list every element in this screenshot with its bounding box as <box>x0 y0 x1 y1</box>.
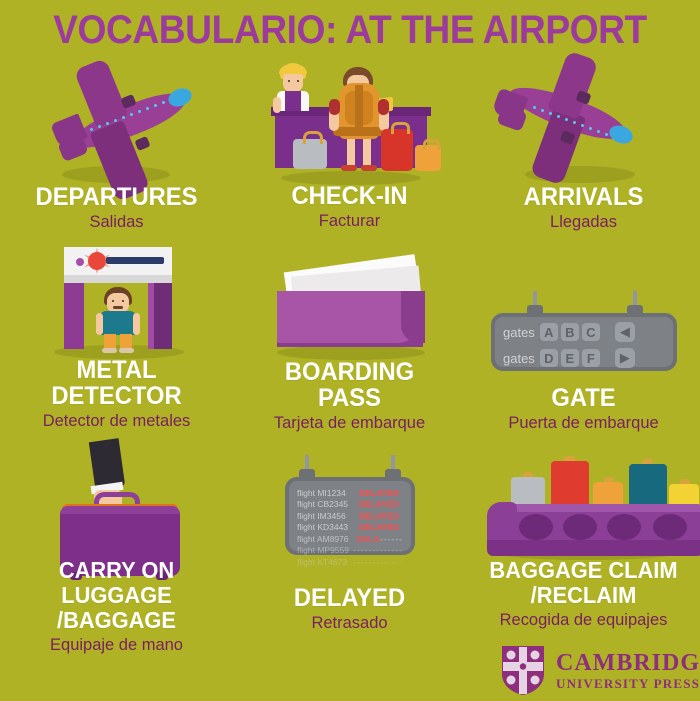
logo-line-2: UNIVERSITY PRESS <box>556 677 700 690</box>
entry-baggage-claim: BAGGAGE CLAIM /RECLAIM Recogida de equip… <box>467 440 700 558</box>
flight-row: flight KD3443 DELAYED <box>297 522 403 534</box>
flight-number: flight KD3443 <box>297 522 359 532</box>
entry-carry-on-luggage: CARRY ON LUGGAGE /BAGGAGE Equipaje de ma… <box>0 440 233 558</box>
baggage-claim-label-en-line1: BAGGAGE CLAIM <box>473 558 694 583</box>
gate-sign-icon: gates A B C ◀ gates D E F ▶ <box>467 255 700 380</box>
flight-number: flight CB2345 <box>297 499 359 509</box>
gate-row2-letter-e: E <box>561 349 579 367</box>
entry-metal-detector: METAL DETECTOR Detector de metales <box>0 245 233 357</box>
gate-row2-letter-f: F <box>582 349 600 367</box>
gate-row2-letter-d: D <box>540 349 558 367</box>
gate-labels: GATE Puerta de embarque <box>467 385 700 433</box>
delayed-labels: DELAYED Retrasado <box>233 585 466 633</box>
flight-row: flight MI1234 DELAYED <box>297 487 403 499</box>
airplane-taking-off-icon <box>0 62 233 182</box>
delayed-label-en: DELAYED <box>239 585 460 611</box>
metal-detector-labels: METAL DETECTOR Detector de metales <box>0 357 233 431</box>
arrivals-label-en: ARRIVALS <box>473 184 694 210</box>
flight-number: flight MP9559 <box>297 545 353 555</box>
flight-number: flight KT4673 <box>297 557 353 567</box>
departures-label-es: Salidas <box>3 212 229 232</box>
logo-line-1: CAMBRIDGE <box>556 651 700 675</box>
entry-delayed: flight MI1234 DELAYED flight CB2345 DELA… <box>233 445 466 557</box>
arrivals-labels: ARRIVALS Llegadas <box>467 184 700 232</box>
flight-number: flight IM3456 <box>297 511 359 521</box>
entry-arrivals: ARRIVALS Llegadas <box>467 62 700 182</box>
flight-number: flight MI1234 <box>297 488 359 498</box>
entry-departures: DEPARTURES Salidas <box>0 62 233 182</box>
delayed-label-es: Retrasado <box>236 613 462 633</box>
baggage-carousel-icon <box>467 440 700 558</box>
flight-row: flight KT4673 ------------- <box>297 556 403 568</box>
checkin-label-en: CHECK-IN <box>239 183 460 209</box>
briefcase-icon <box>0 440 233 558</box>
suitcase <box>629 464 667 507</box>
cambridge-university-press-logo: CAMBRIDGE UNIVERSITY PRESS <box>500 644 700 696</box>
arrivals-label-es: Llegadas <box>470 212 696 232</box>
metal-detector-icon <box>0 245 233 357</box>
boarding-pass-label-en-line1: BOARDING <box>239 359 460 385</box>
gate-row1-word: gates <box>503 325 535 340</box>
flight-dashes: ------------- <box>353 557 403 567</box>
flight-status: DELAYED <box>359 488 399 498</box>
flight-row: flight IM3456 DELAYED <box>297 510 403 522</box>
entry-checkin: CHECK-IN <box>233 55 466 182</box>
baggage-claim-label-en-line2: /RECLAIM <box>473 583 694 608</box>
page-title: VOCABULARIO: AT THE AIRPORT <box>25 8 676 53</box>
boarding-pass-label-en-line2: PASS <box>239 385 460 411</box>
flight-dashes: ------------- <box>353 545 403 555</box>
departures-labels: DEPARTURES Salidas <box>0 184 233 232</box>
gate-row1-letter-a: A <box>540 323 558 341</box>
suitcase <box>511 477 545 507</box>
entry-gate: gates A B C ◀ gates D E F ▶ GATE Puerta … <box>467 255 700 380</box>
gate-row1-arrow-left-icon: ◀ <box>615 322 635 342</box>
boarding-pass-label-es: Tarjeta de embarque <box>236 413 462 433</box>
gate-sign-row-1: gates A B C ◀ <box>503 321 673 343</box>
flight-board-panel: flight MI1234 DELAYED flight CB2345 DELA… <box>285 477 415 555</box>
cambridge-crest-icon <box>500 644 546 696</box>
gate-row1-letter-c: C <box>582 323 600 341</box>
flight-status: DELAYED <box>359 522 399 532</box>
boarding-pass-icon <box>233 255 466 357</box>
metal-detector-label-en-line2: DETECTOR <box>6 383 227 409</box>
gate-sign-row-2: gates D E F ▶ <box>503 347 673 369</box>
flight-row: flight MP9559 ------------- <box>297 545 403 557</box>
airplane-landing-icon <box>467 62 700 182</box>
carry-on-labels: CARRY ON LUGGAGE /BAGGAGE Equipaje de ma… <box>0 558 233 655</box>
departures-label-en: DEPARTURES <box>6 184 227 210</box>
check-in-desk-icon: CHECK-IN <box>233 55 466 182</box>
flight-board-icon: flight MI1234 DELAYED flight CB2345 DELA… <box>233 445 466 557</box>
suitcase <box>551 461 589 507</box>
metal-detector-label-en-line1: METAL <box>6 357 227 383</box>
gate-label-es: Puerta de embarque <box>470 413 696 433</box>
flight-status: DELAYED <box>359 511 399 521</box>
entry-boarding-pass: BOARDING PASS Tarjeta de embarque <box>233 255 466 357</box>
gate-row2-word: gates <box>503 351 535 366</box>
flight-number: flight AM8976 <box>297 534 357 544</box>
checkin-label-es: Facturar <box>236 211 462 231</box>
flight-row: flight AM8976 DELA ------ <box>297 533 403 545</box>
carry-on-label-es: Equipaje de mano <box>3 635 229 655</box>
baggage-claim-label-es: Recogida de equipajes <box>470 610 696 630</box>
checkin-labels: CHECK-IN Facturar <box>233 183 466 231</box>
flight-status: DELAYED <box>359 499 399 509</box>
flight-status: DELA <box>357 534 380 544</box>
gate-row1-letter-b: B <box>561 323 579 341</box>
gate-sign-board: gates A B C ◀ gates D E F ▶ <box>491 313 677 371</box>
carry-on-label-en-line1: CARRY ON LUGGAGE <box>6 558 227 608</box>
infographic-page: VOCABULARIO: AT THE AIRPORT <box>0 0 700 700</box>
gate-row2-arrow-right-icon: ▶ <box>615 348 635 368</box>
baggage-claim-labels: BAGGAGE CLAIM /RECLAIM Recogida de equip… <box>467 558 700 630</box>
boarding-pass-labels: BOARDING PASS Tarjeta de embarque <box>233 359 466 433</box>
flight-dashes: ------ <box>380 534 403 544</box>
flight-row: flight CB2345 DELAYED <box>297 499 403 511</box>
metal-detector-label-es: Detector de metales <box>3 411 229 431</box>
carry-on-label-en-line2: /BAGGAGE <box>6 608 227 633</box>
gate-label-en: GATE <box>473 385 694 411</box>
